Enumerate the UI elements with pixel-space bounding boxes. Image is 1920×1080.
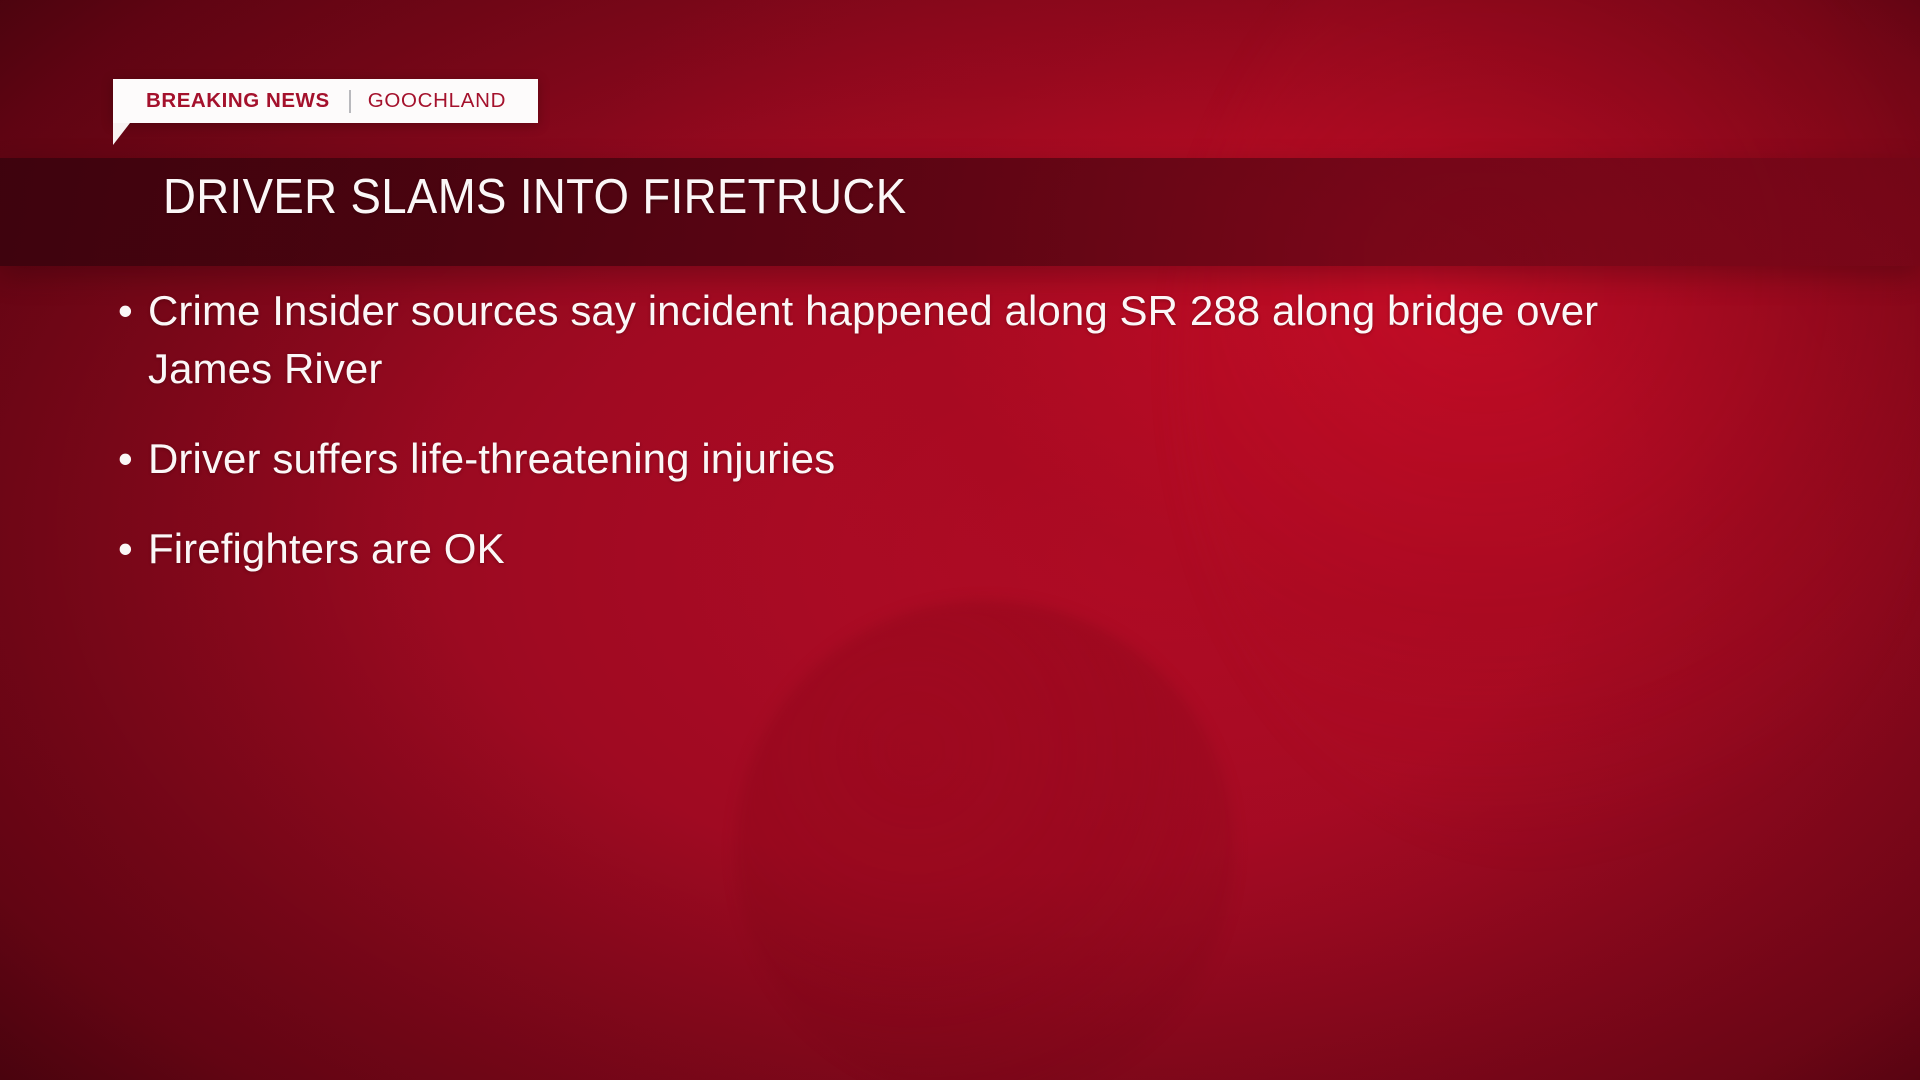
list-item-text: Driver suffers life-threatening injuries <box>148 430 835 488</box>
badge-divider <box>349 90 351 113</box>
bullet-list: • Crime Insider sources say incident hap… <box>118 282 1798 578</box>
list-item-text: Crime Insider sources say incident happe… <box>148 282 1678 398</box>
badge-kicker-label: BREAKING NEWS <box>146 91 330 112</box>
list-item-text: Firefighters are OK <box>148 520 505 578</box>
page-title: DRIVER SLAMS INTO FIRETRUCK <box>163 169 906 226</box>
badge-body: BREAKING NEWS GOOCHLAND <box>113 79 538 123</box>
badge-tail-notch <box>113 123 130 145</box>
list-item: • Driver suffers life-threatening injuri… <box>118 430 1798 488</box>
bullet-point-icon: • <box>118 430 148 488</box>
bullet-point-icon: • <box>118 520 148 578</box>
news-graphic-stage: BREAKING NEWS GOOCHLAND DRIVER SLAMS INT… <box>0 0 1920 1080</box>
badge-location-label: GOOCHLAND <box>368 91 506 112</box>
bullet-point-icon: • <box>118 282 148 340</box>
list-item: • Firefighters are OK <box>118 520 1798 578</box>
background-circle-shape <box>735 600 1235 1080</box>
list-item: • Crime Insider sources say incident hap… <box>118 282 1798 398</box>
breaking-news-badge: BREAKING NEWS GOOCHLAND <box>113 79 538 123</box>
